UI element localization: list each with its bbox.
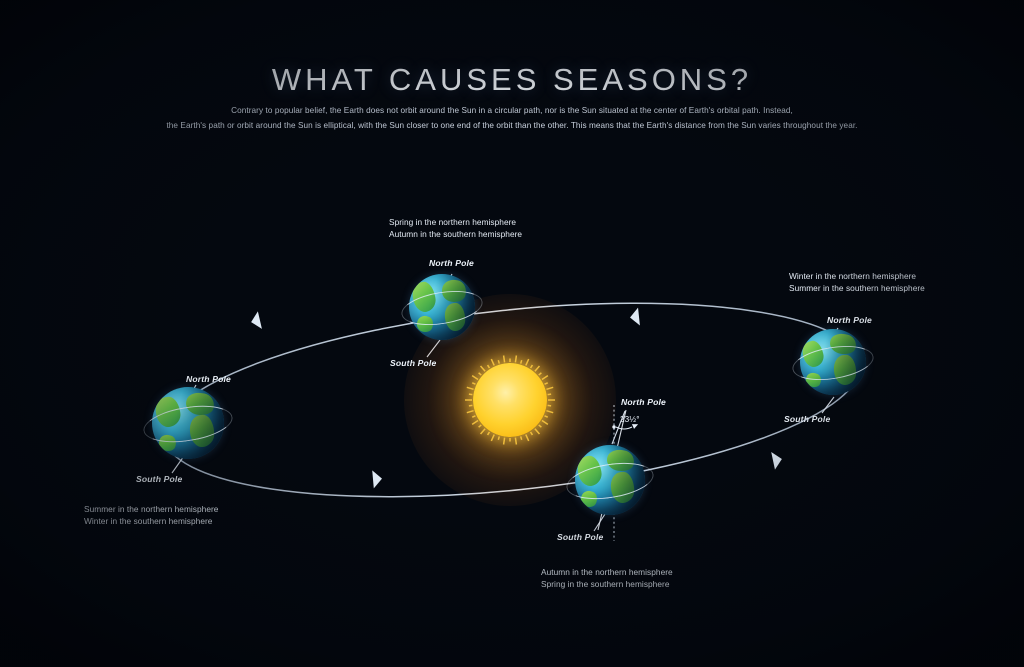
season-label-summer-line1: Summer in the northern hemisphere	[84, 504, 218, 514]
season-label-summer-line2: Winter in the southern hemisphere	[84, 516, 212, 526]
page-title: WHAT CAUSES SEASONS?	[0, 62, 1024, 98]
label-north-pole-summer: North Pole	[186, 374, 231, 384]
subtitle-line-2: the Earth's path or orbit around the Sun…	[0, 119, 1024, 134]
season-label-autumn-line2: Spring in the southern hemisphere	[541, 579, 670, 589]
season-label-autumn: Autumn in the northern hemisphere Spring…	[541, 567, 673, 590]
tilt-angle-value: 23½°	[620, 415, 640, 424]
season-label-autumn-line1: Autumn in the northern hemisphere	[541, 567, 673, 577]
season-label-winter: Winter in the northern hemisphere Summer…	[789, 271, 925, 294]
orbit-arrow-top-right	[629, 308, 640, 327]
label-south-pole-spring: South Pole	[390, 358, 436, 368]
sun-core	[473, 363, 547, 437]
label-south-pole-winter: South Pole	[784, 414, 830, 424]
orbit-arrow-bottom-left	[372, 470, 383, 489]
leader-line-south-pole-right	[822, 397, 834, 413]
season-label-spring: Spring in the northern hemisphere Autumn…	[389, 217, 522, 240]
season-label-spring-line1: Spring in the northern hemisphere	[389, 217, 516, 227]
orbit-arrow-top-left	[249, 311, 262, 331]
infographic-canvas: North Pole South Pole Spring in the nort…	[0, 0, 1024, 667]
label-south-pole-autumn: South Pole	[557, 532, 603, 542]
label-north-pole-winter: North Pole	[827, 315, 872, 325]
tilt-angle-label: 23½°	[620, 415, 640, 424]
label-south-pole-summer: South Pole	[136, 474, 182, 484]
subtitle-line-1: Contrary to popular belief, the Earth do…	[231, 106, 793, 115]
tilt-angle-arrow	[616, 427, 632, 429]
season-label-winter-line1: Winter in the northern hemisphere	[789, 271, 916, 281]
season-label-summer: Summer in the northern hemisphere Winter…	[84, 504, 218, 527]
label-north-pole-spring: North Pole	[429, 258, 474, 268]
label-north-pole-autumn: North Pole	[621, 397, 666, 407]
season-label-spring-line2: Autumn in the southern hemisphere	[389, 229, 522, 239]
page-subtitle: Contrary to popular belief, the Earth do…	[0, 104, 1024, 133]
sun	[448, 338, 572, 462]
orbit-arrow-bottom-right	[771, 450, 784, 469]
season-label-winter-line2: Summer in the southern hemisphere	[789, 283, 925, 293]
